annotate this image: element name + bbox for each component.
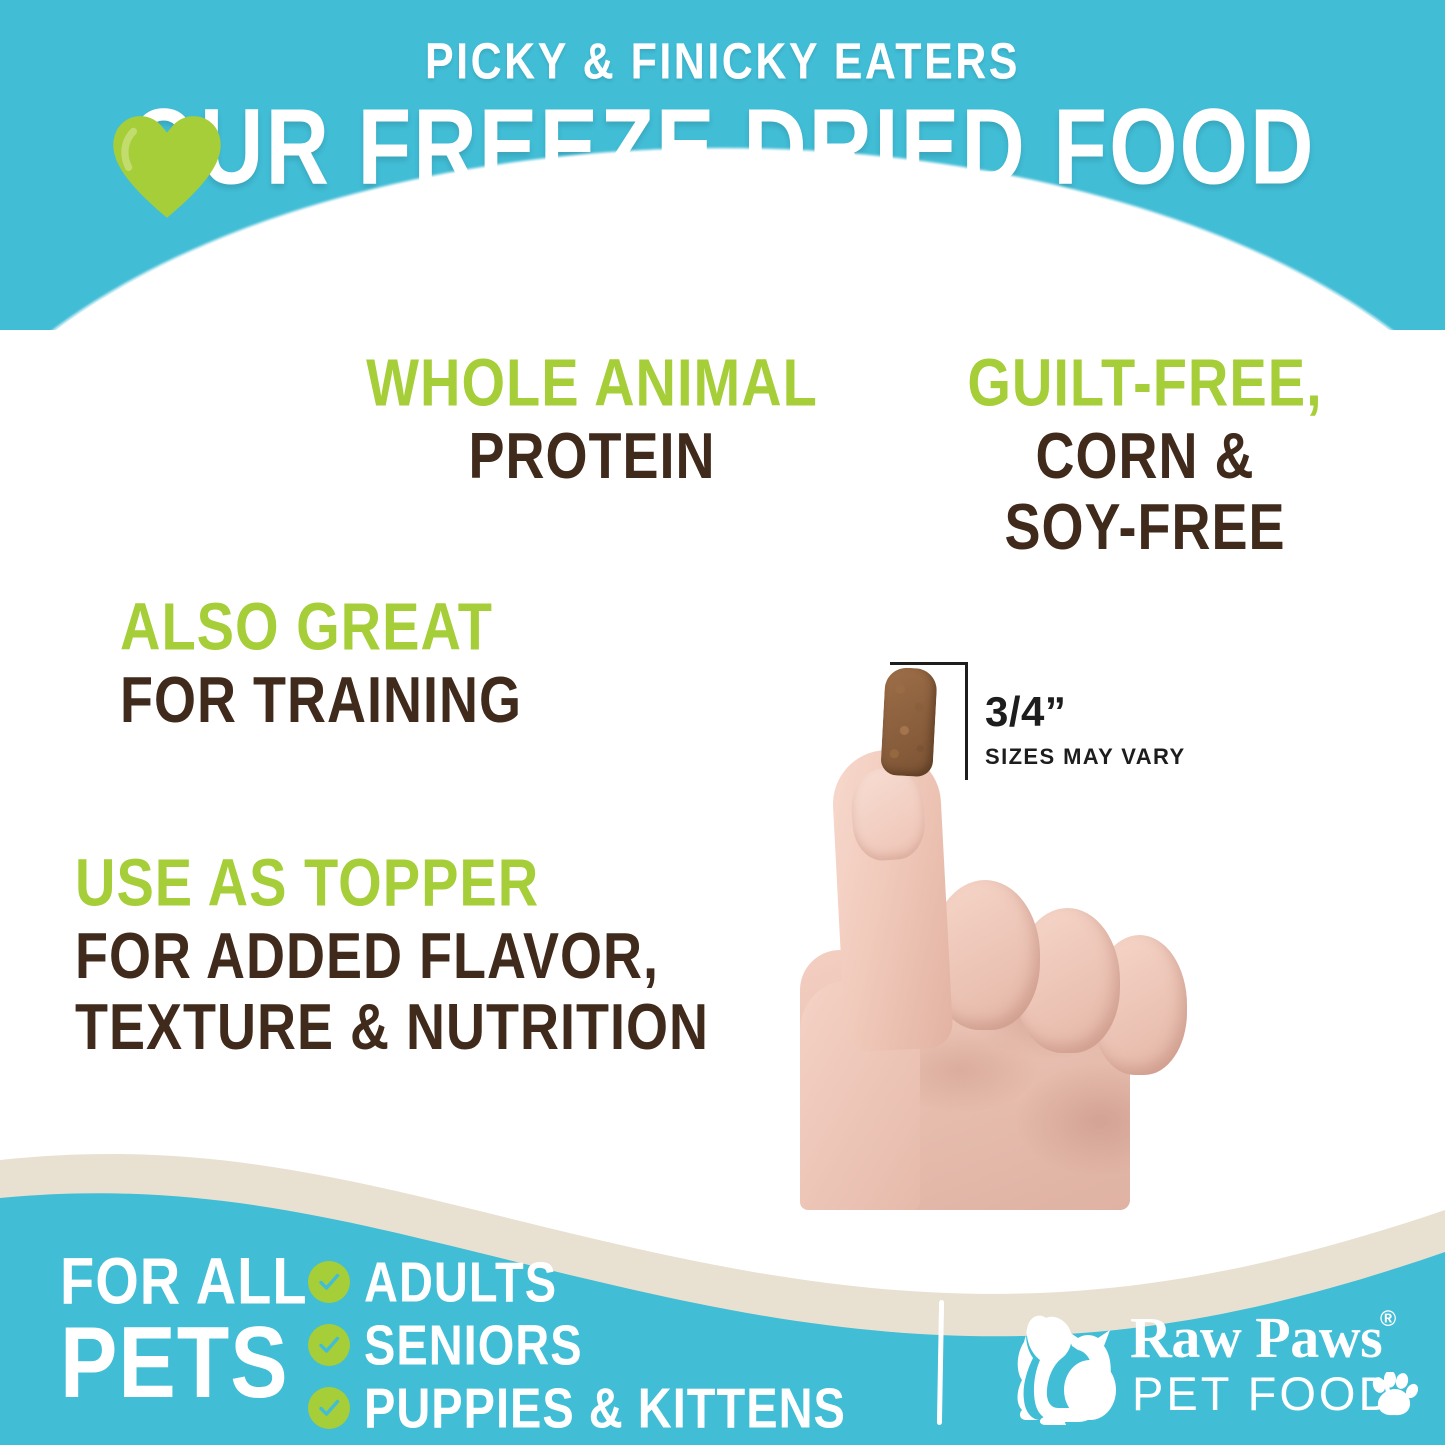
header-kicker: PICKY & FINICKY EATERS [0,34,1445,92]
header-band: PICKY & FINICKY EATERS OUR FREEZE DRIED … [0,0,1445,330]
check-circle-icon [308,1261,350,1303]
feature-use-as-topper: USE AS TOPPER FOR ADDED FLAVOR, TEXTURE … [75,848,695,1050]
product-infographic: PICKY & FINICKY EATERS OUR FREEZE DRIED … [0,0,1445,1445]
measurement-bracket-icon [890,662,968,665]
feature-dark-line: PROTEIN [342,423,842,491]
feature-guilt-free: GUILT-FREE, CORN & SOY-FREE [930,348,1360,550]
list-item-label: SENIORS [364,1312,583,1378]
feature-dark-line: FOR ADDED FLAVOR, [75,923,695,991]
heart-icon [107,105,227,225]
paw-print-icon [1368,1372,1418,1418]
feature-dark-line: TEXTURE & NUTRITION [75,994,695,1062]
feature-whole-animal-protein: WHOLE ANIMAL PROTEIN [342,348,842,480]
list-item-label: ADULTS [364,1249,557,1315]
list-item: ADULTS [308,1250,846,1313]
freeze-dried-treat [880,667,938,778]
list-item: SENIORS [308,1313,846,1376]
check-circle-icon [308,1324,350,1366]
measurement-bracket-icon [965,662,968,780]
pet-types-checklist: ADULTS SENIORS PUPPIES & KITTENS [308,1250,846,1439]
size-value: 3/4” [985,688,1066,736]
brand-logo[interactable]: Raw Paws ® PET FOOD [1010,1300,1430,1430]
brand-name: Raw Paws [1130,1304,1382,1371]
feature-green-line: ALSO GREAT [120,592,550,661]
feature-also-great-for-training: ALSO GREAT FOR TRAINING [120,592,550,724]
feature-green-line: USE AS TOPPER [75,848,695,917]
feature-green-line: GUILT-FREE, [930,348,1360,417]
check-circle-icon [308,1387,350,1429]
feature-green-line: WHOLE ANIMAL [342,348,842,417]
pets-label: PETS [60,1312,289,1413]
feature-dark-line: SOY-FREE [930,494,1360,562]
dog-cat-silhouette-icon [1010,1302,1122,1427]
registered-mark: ® [1380,1306,1396,1332]
for-all-label: FOR ALL [60,1248,308,1314]
list-item-label: PUPPIES & KITTENS [364,1375,846,1441]
brand-tagline: PET FOOD [1132,1366,1395,1421]
size-note: SIZES MAY VARY [985,744,1186,770]
feature-dark-line: CORN & [930,423,1360,491]
feature-dark-line: FOR TRAINING [120,667,550,735]
list-item: PUPPIES & KITTENS [308,1376,846,1439]
